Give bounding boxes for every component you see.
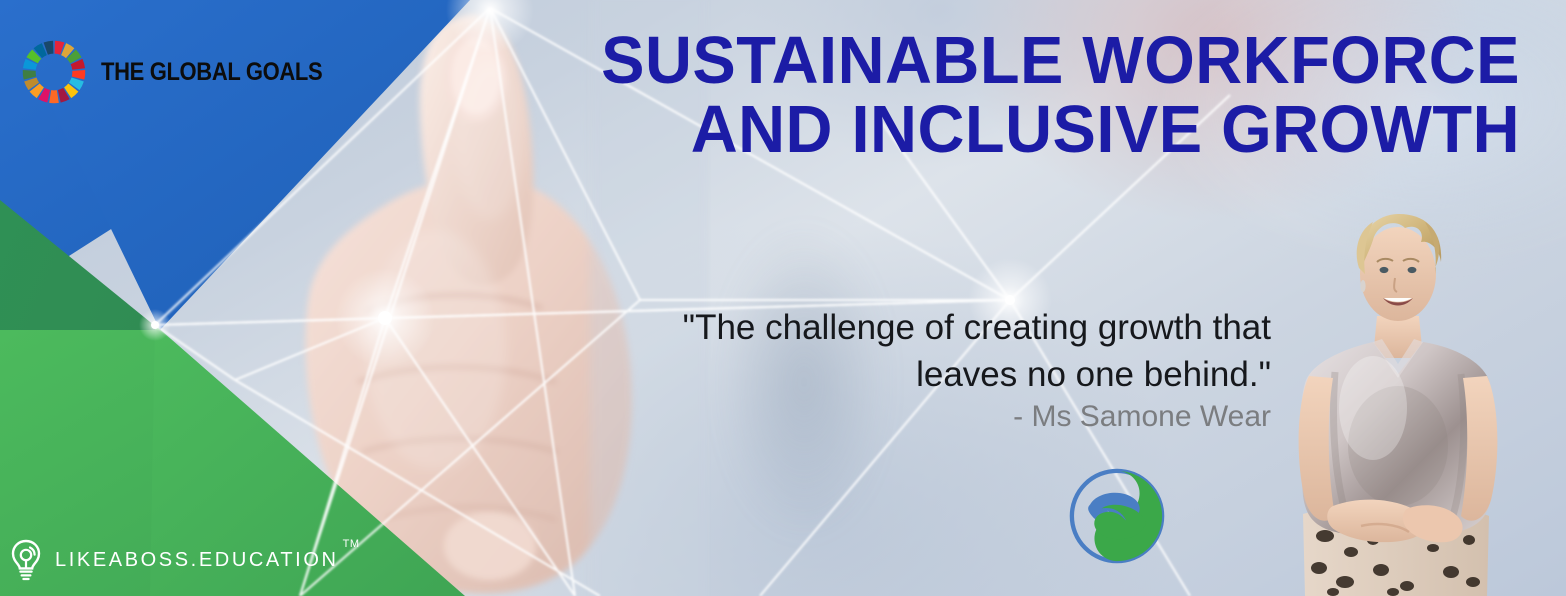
brand-name-text: LIKEABOSS.EDUCATION	[55, 549, 339, 571]
likeaboss-brand-watermark: LIKEABOSS.EDUCATION TM	[8, 538, 339, 582]
global-goals-logo: THE GLOBAL GOALS	[20, 38, 352, 106]
speaker-portrait	[1273, 196, 1523, 596]
sustainable-workforce-banner: THE GLOBAL GOALS SUSTAINABLE WORKFORCE A…	[0, 0, 1566, 596]
trademark-symbol: TM	[343, 538, 360, 550]
brand-name-label: LIKEABOSS.EDUCATION TM	[55, 549, 339, 572]
headline-line-2: AND INCLUSIVE GROWTH	[531, 95, 1520, 164]
headline-line-1: SUSTAINABLE WORKFORCE	[601, 23, 1520, 98]
quote-line-2: leaves no one behind."	[916, 355, 1271, 394]
quote-line-1: "The challenge of creating growth that	[683, 308, 1271, 347]
sdg-colour-wheel-icon	[20, 38, 88, 106]
quote-attribution: - Ms Samone Wear	[611, 400, 1271, 434]
page-title: SUSTAINABLE WORKFORCE AND INCLUSIVE GROW…	[531, 26, 1520, 164]
global-goals-label: THE GLOBAL GOALS	[101, 58, 322, 87]
eco-hands-circle-icon	[1069, 468, 1165, 564]
lightbulb-icon	[8, 538, 44, 582]
quote-text: "The challenge of creating growth that l…	[611, 305, 1271, 399]
